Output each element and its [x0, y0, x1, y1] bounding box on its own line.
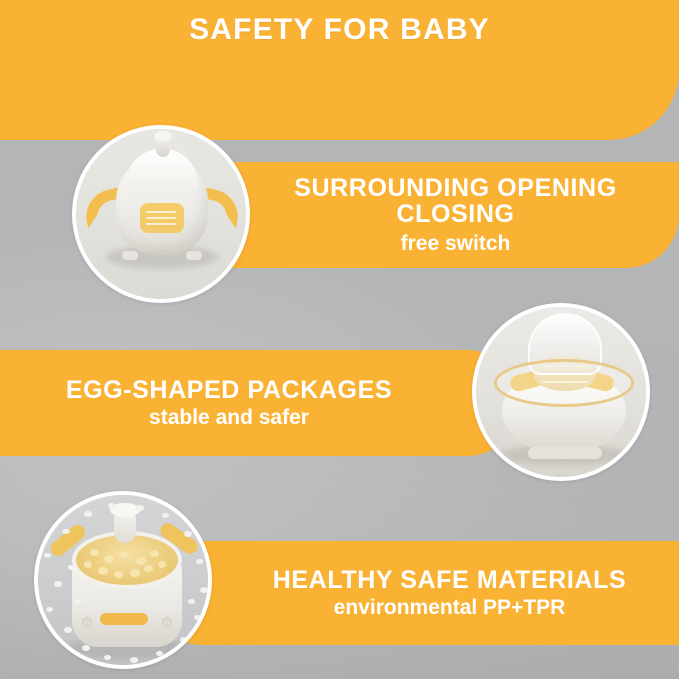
page-title: SAFETY FOR BABY: [0, 13, 679, 47]
feature-1-photo: [72, 125, 250, 303]
product-feature-infographic: SAFETY FOR BABY SURROUNDING OPENING CLOS…: [0, 0, 679, 679]
feature-2-headline-line-1: EGG-SHAPED PACKAGES: [28, 377, 430, 404]
feature-1-headline-line-2: CLOSING: [240, 201, 671, 228]
egg-cooker-with-clear-dome-lid-photo: [476, 307, 646, 477]
feature-2-label-pill: EGG-SHAPED PACKAGES stable and safer: [0, 350, 520, 456]
feature-2-photo: [472, 303, 650, 481]
egg-cooker-with-yellow-handles-photo: [76, 129, 246, 299]
feature-1-headline-line-1: SURROUNDING OPENING: [240, 175, 671, 202]
feature-3-headline-line-1: HEALTHY SAFE MATERIALS: [230, 567, 669, 594]
feature-3-photo: [34, 491, 212, 669]
feature-2-subtext: stable and safer: [28, 406, 430, 429]
cooker-filled-with-corn-and-rice-photo: [38, 495, 208, 665]
feature-3-label-pill: HEALTHY SAFE MATERIALS environmental PP+…: [150, 541, 679, 645]
feature-1-subtext: free switch: [240, 232, 671, 255]
feature-3-subtext: environmental PP+TPR: [230, 596, 669, 619]
